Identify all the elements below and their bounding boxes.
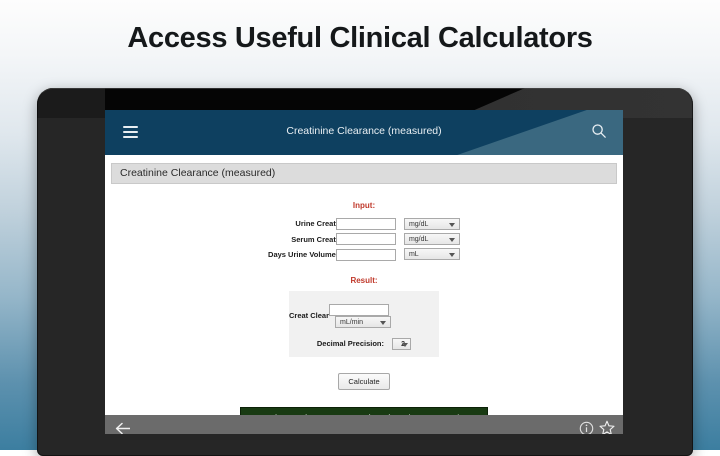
chevron-down-icon (402, 343, 408, 347)
result-panel: Creat Clear mL/min Decimal Precisi (289, 291, 439, 357)
result-heading: Result: (105, 276, 623, 285)
app-bar-title: Creatinine Clearance (measured) (105, 125, 623, 137)
page-content: Creatinine Clearance (measured) Input: U… (105, 163, 623, 415)
days-urine-volume-unit-value: mL (409, 251, 419, 258)
app-bar: Creatinine Clearance (measured) (105, 110, 623, 155)
result-form-table: Creat Clear mL/min (289, 302, 439, 329)
chevron-down-icon (380, 321, 386, 325)
tablet-device-frame: Creatinine Clearance (measured) Creatini… (37, 88, 693, 456)
days-urine-volume-unit-select[interactable]: mL (404, 248, 460, 260)
table-row: Serum Creat mg/dL (268, 231, 460, 246)
urine-creat-input[interactable] (336, 218, 396, 230)
decimal-precision-label: Decimal Precision: (317, 339, 384, 348)
nav-right-actions (579, 420, 615, 434)
chevron-down-icon (449, 238, 455, 242)
table-row: Days Urine Volume mL (268, 247, 460, 262)
label-serum-creat: Serum Creat (268, 231, 336, 246)
input-heading: Input: (105, 201, 623, 210)
label-creat-clear: Creat Clear (289, 302, 329, 329)
star-outline-icon[interactable] (599, 420, 615, 434)
decimal-precision-row: Decimal Precision: 2 (289, 338, 439, 350)
serum-creat-unit-value: mg/dL (409, 236, 428, 243)
urine-creat-unit-select[interactable]: mg/dL (404, 218, 460, 230)
chevron-down-icon (449, 253, 455, 257)
table-row: Creat Clear mL/min (289, 302, 439, 329)
serum-creat-input[interactable] (336, 233, 396, 245)
creat-clear-unit-value: mL/min (340, 319, 363, 326)
section-title-bar: Creatinine Clearance (measured) (111, 163, 617, 184)
chevron-down-icon (449, 223, 455, 227)
input-form-table: Urine Creat mg/dL Serum Creat (268, 216, 460, 262)
back-arrow-icon[interactable] (115, 421, 131, 434)
page-headline: Access Useful Clinical Calculators (0, 22, 720, 55)
bezel-notch (105, 88, 525, 110)
serum-creat-unit-select[interactable]: mg/dL (404, 233, 460, 245)
creat-clear-unit-select[interactable]: mL/min (335, 316, 391, 328)
label-days-urine-volume: Days Urine Volume (268, 247, 336, 262)
device-screen: Creatinine Clearance (measured) Creatini… (105, 110, 623, 434)
decimal-precision-select[interactable]: 2 (392, 338, 411, 350)
creat-clear-output[interactable] (329, 304, 389, 316)
calculate-button[interactable]: Calculate (338, 373, 389, 390)
calculate-button-wrap: Calculate (105, 371, 623, 390)
system-navigation-bar (105, 415, 623, 434)
urine-creat-unit-value: mg/dL (409, 221, 428, 228)
search-icon[interactable] (591, 123, 607, 144)
screenshot-stage: Access Useful Clinical Calculators Creat… (0, 0, 720, 450)
days-urine-volume-input[interactable] (336, 249, 396, 261)
table-row: Urine Creat mg/dL (268, 216, 460, 231)
info-circle-icon[interactable] (579, 421, 594, 435)
label-urine-creat: Urine Creat (268, 216, 336, 231)
